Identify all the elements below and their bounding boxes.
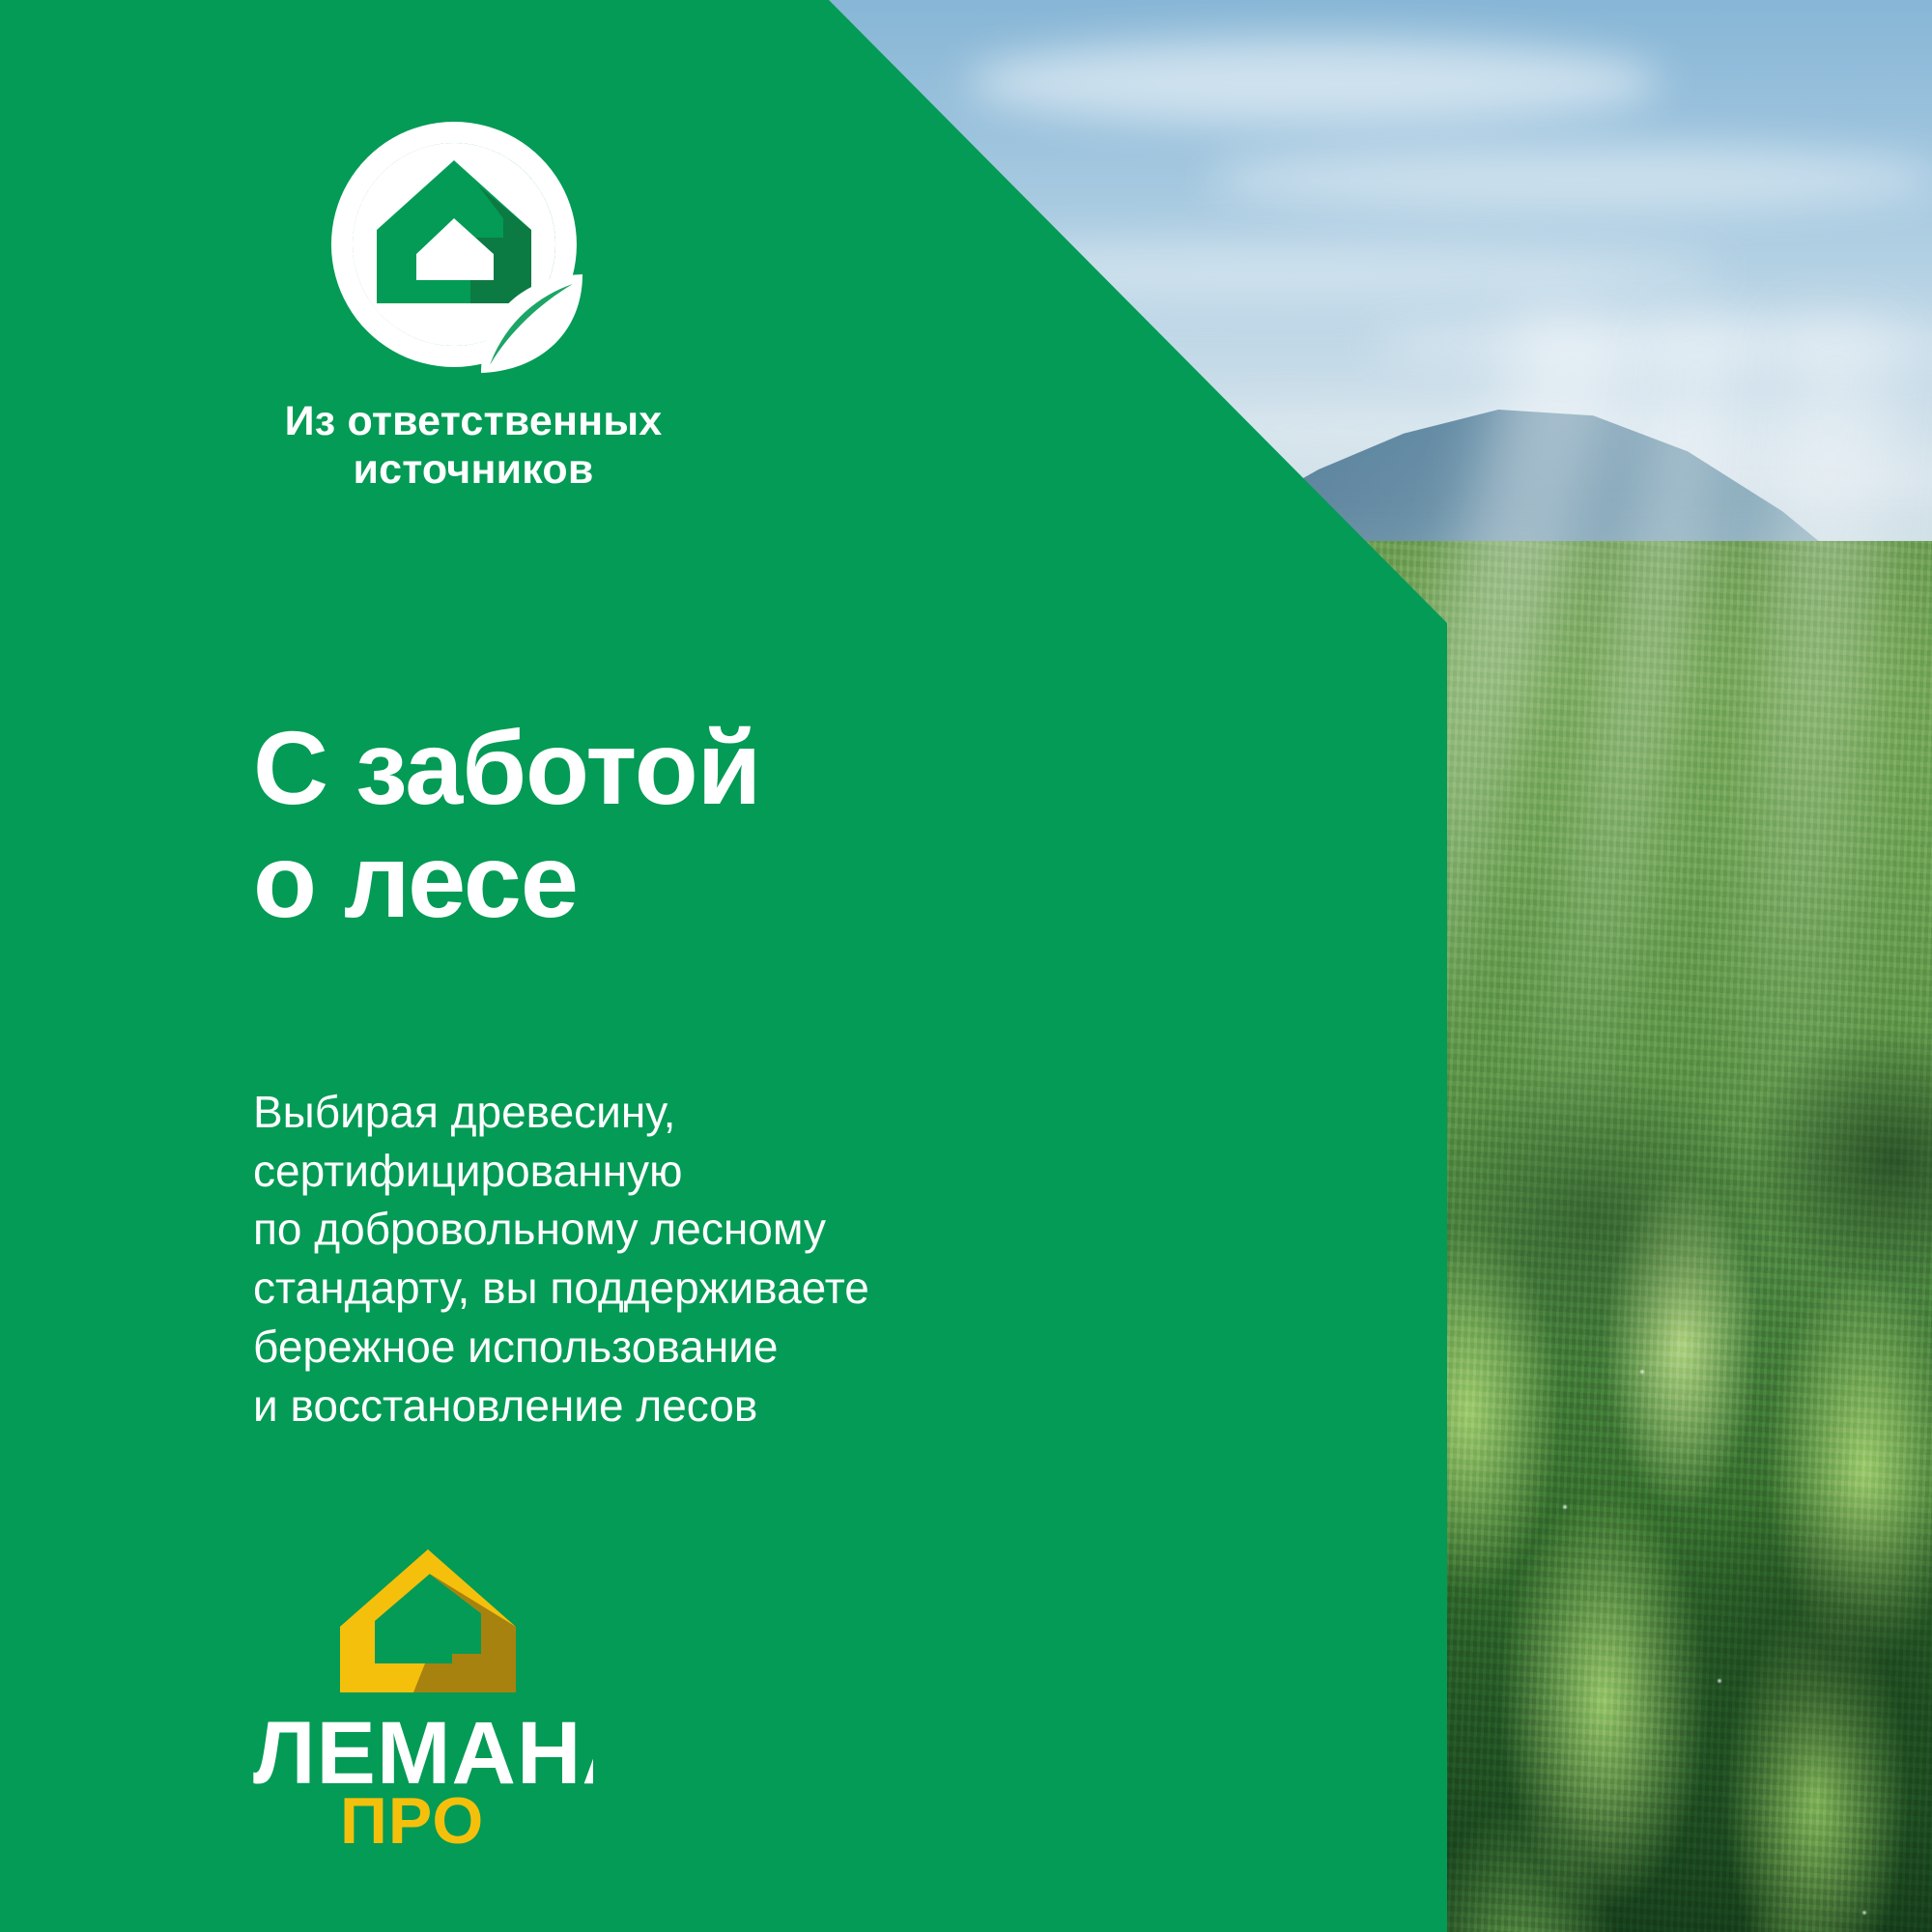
poster: Из ответственных источников С заботой о … (0, 0, 1932, 1932)
poster-content: Из ответственных источников С заботой о … (0, 0, 1932, 1932)
headline: С заботой о лесе (253, 712, 760, 937)
lemana-house-icon (336, 1546, 520, 1700)
lemana-pro-wordmark: ЛЕМАНА ПРО (253, 1710, 593, 1845)
wordmark-pro: ПРО (340, 1784, 484, 1845)
lemana-pro-logo: ЛЕМАНА ПРО (253, 1546, 620, 1845)
certification-label-line1: Из ответственных (246, 398, 700, 446)
body-copy: Выбирая древесину, сертифицированную по … (253, 1083, 869, 1435)
certification-label-line2: источников (246, 446, 700, 495)
certification-badge: Из ответственных источников (246, 114, 700, 495)
certification-label: Из ответственных источников (246, 398, 700, 495)
house-leaf-circle-icon (324, 114, 584, 375)
